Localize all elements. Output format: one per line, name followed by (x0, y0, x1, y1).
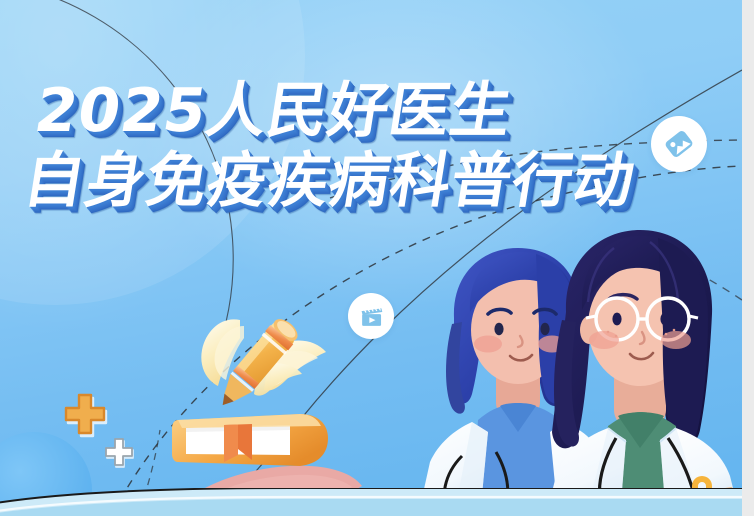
page-right-edge (742, 0, 754, 516)
video-clapperboard-icon[interactable] (348, 293, 394, 339)
poster-title: 2025人民好医生 自身免疫疾病科普行动 (19, 80, 650, 213)
doctor-illustration-group (418, 226, 742, 516)
title-line-1: 2025人民好医生 (31, 80, 651, 142)
desk-surface (0, 488, 742, 516)
poster-background: 2025人民好医生 自身免疫疾病科普行动 (0, 0, 742, 516)
doctor-glasses (546, 230, 740, 516)
photo-image-icon[interactable] (651, 116, 707, 172)
open-book (172, 408, 332, 474)
poster-canvas: 2025人民好医生 自身免疫疾病科普行动 (0, 0, 754, 516)
plus-orange-icon (63, 392, 107, 436)
plus-white-icon (104, 437, 134, 467)
winged-pencil (178, 308, 338, 418)
title-line-2: 自身免疫疾病科普行动 (19, 150, 639, 212)
